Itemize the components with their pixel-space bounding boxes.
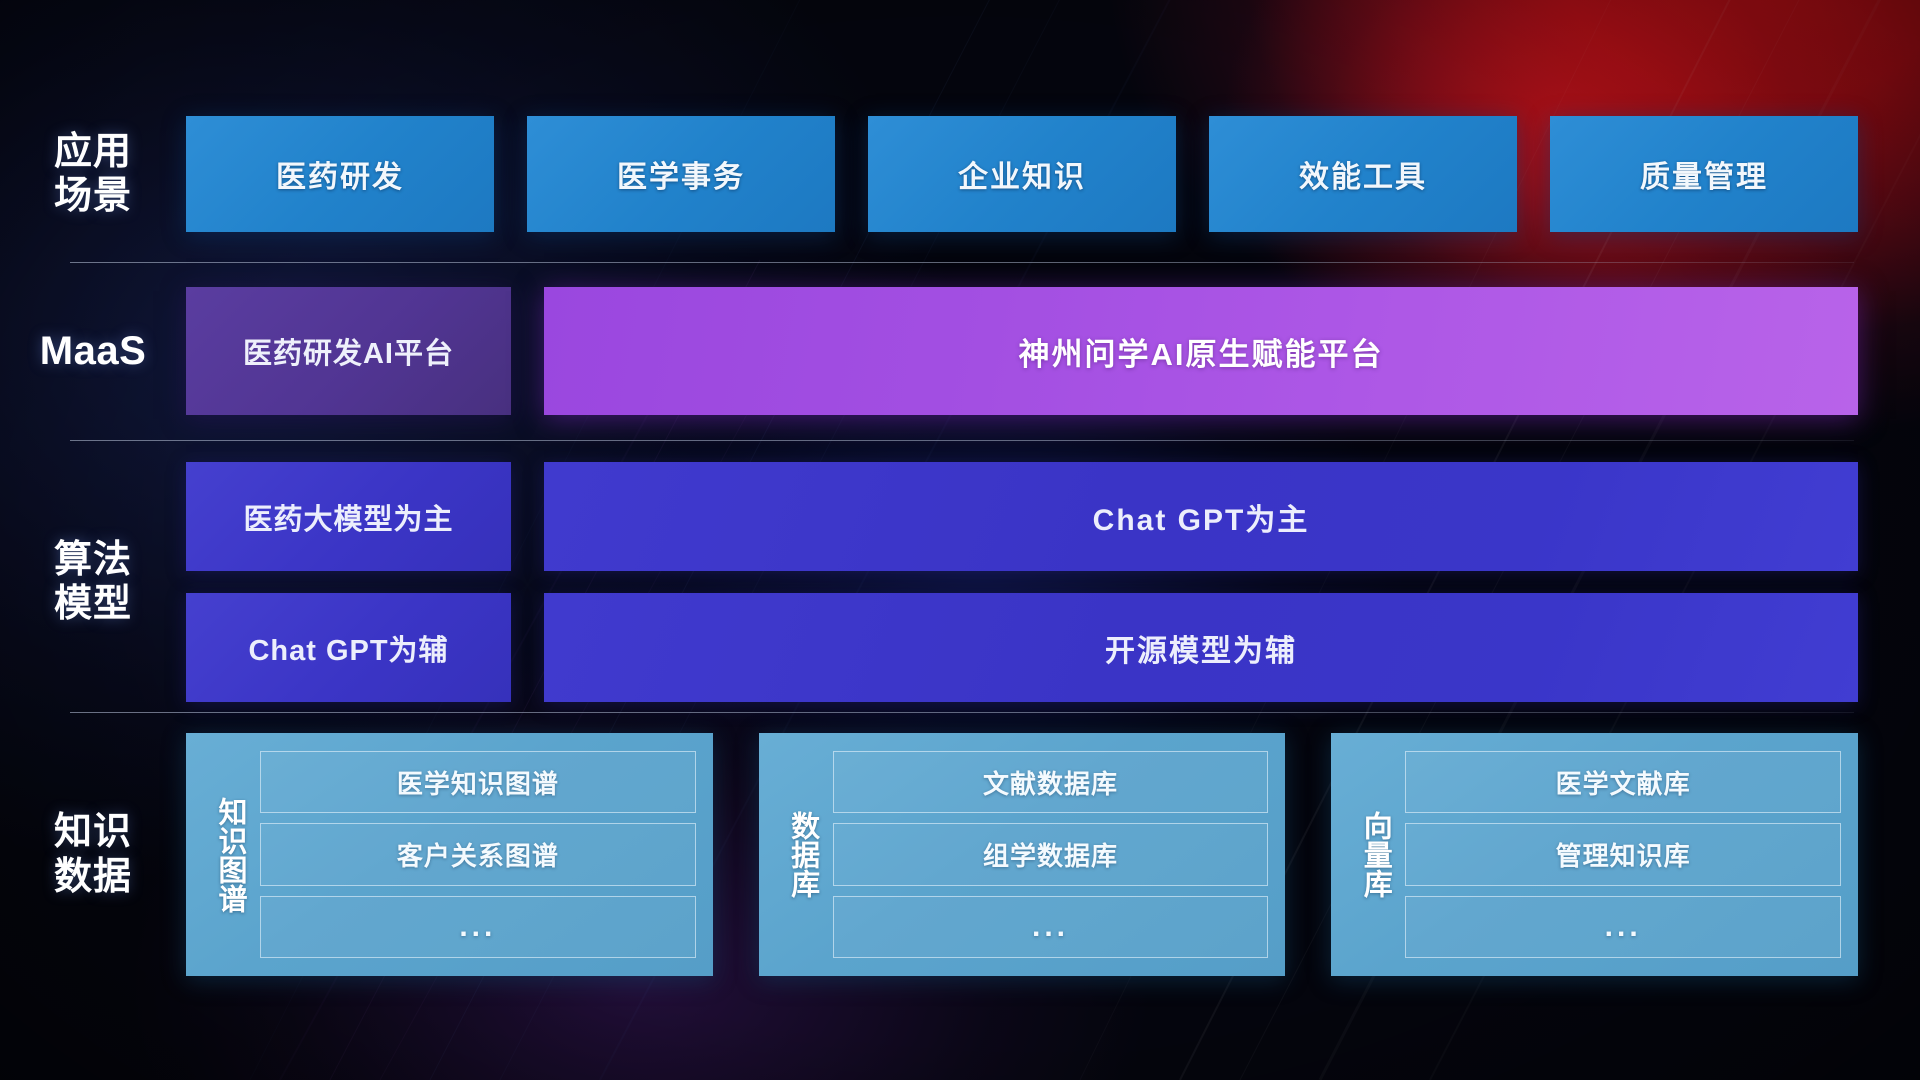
knowledge-group-title-knowledge-graph: 知识图谱 <box>198 747 260 962</box>
knowledge-group-title-database: 数据库 <box>771 747 833 962</box>
knowledge-item-more-graph[interactable]: ... <box>260 896 696 958</box>
diagram-canvas: 应用 场景 医药研发 医学事务 企业知识 效能工具 质量管理 MaaS 医药研发… <box>0 0 1920 1080</box>
row-label-knowledge-data: 知识 数据 <box>0 810 186 898</box>
knowledge-items-vector-store: 医学文献库 管理知识库 ... <box>1405 747 1841 962</box>
row-knowledge-data: 知识 数据 知识图谱 医学知识图谱 客户关系图谱 ... 数据库 <box>0 733 1920 976</box>
knowledge-items-knowledge-graph: 医学知识图谱 客户关系图谱 ... <box>260 747 696 962</box>
row-label-application-scenarios: 应用 场景 <box>0 130 186 218</box>
maas-tile-shenzhou-wenxue[interactable]: 神州问学AI原生赋能平台 <box>544 287 1858 415</box>
app-tile-quality-management[interactable]: 质量管理 <box>1550 116 1858 232</box>
row-label-maas: MaaS <box>0 328 186 374</box>
knowledge-group-vector-store[interactable]: 向量库 医学文献库 管理知识库 ... <box>1331 733 1858 976</box>
divider-algo-knowledge <box>70 712 1854 713</box>
algorithm-row-primary: 医药大模型为主 Chat GPT为主 <box>186 462 1858 571</box>
knowledge-item-customer-relation-graph[interactable]: 客户关系图谱 <box>260 823 696 885</box>
maas-tile-pharma-ai-platform[interactable]: 医药研发AI平台 <box>186 287 511 415</box>
knowledge-group-knowledge-graph[interactable]: 知识图谱 医学知识图谱 客户关系图谱 ... <box>186 733 713 976</box>
app-tile-enterprise-knowledge[interactable]: 企业知识 <box>868 116 1176 232</box>
divider-maas-algo <box>70 440 1854 441</box>
knowledge-item-omics-database[interactable]: 组学数据库 <box>833 823 1269 885</box>
algo-tile-opensource-secondary[interactable]: 开源模型为辅 <box>544 593 1858 702</box>
knowledge-item-more-vector[interactable]: ... <box>1405 896 1841 958</box>
knowledge-item-management-knowledge-store[interactable]: 管理知识库 <box>1405 823 1841 885</box>
knowledge-item-medical-literature-store[interactable]: 医学文献库 <box>1405 751 1841 813</box>
divider-apps-maas <box>70 262 1854 263</box>
algo-tile-chatgpt-secondary[interactable]: Chat GPT为辅 <box>186 593 511 702</box>
row-application-scenarios: 应用 场景 医药研发 医学事务 企业知识 效能工具 质量管理 <box>0 116 1920 232</box>
knowledge-group-title-vector-store: 向量库 <box>1343 747 1405 962</box>
algorithm-models-container: 医药大模型为主 Chat GPT为主 Chat GPT为辅 开源模型为辅 <box>186 462 1920 702</box>
knowledge-item-more-database[interactable]: ... <box>833 896 1269 958</box>
row-maas: MaaS 医药研发AI平台 神州问学AI原生赋能平台 <box>0 287 1920 415</box>
row-algorithm-models: 算法 模型 医药大模型为主 Chat GPT为主 Chat GPT为辅 开源模型… <box>0 462 1920 702</box>
application-tiles-container: 医药研发 医学事务 企业知识 效能工具 质量管理 <box>186 116 1920 232</box>
knowledge-items-database: 文献数据库 组学数据库 ... <box>833 747 1269 962</box>
app-tile-medical-affairs[interactable]: 医学事务 <box>527 116 835 232</box>
algo-tile-chatgpt-primary[interactable]: Chat GPT为主 <box>544 462 1858 571</box>
knowledge-group-database[interactable]: 数据库 文献数据库 组学数据库 ... <box>759 733 1286 976</box>
app-tile-medicine-rd[interactable]: 医药研发 <box>186 116 494 232</box>
algo-tile-pharma-llm-primary[interactable]: 医药大模型为主 <box>186 462 511 571</box>
knowledge-groups-container: 知识图谱 医学知识图谱 客户关系图谱 ... 数据库 文献数据库 组学数据库 .… <box>186 733 1920 976</box>
knowledge-item-medical-knowledge-graph[interactable]: 医学知识图谱 <box>260 751 696 813</box>
algorithm-row-secondary: Chat GPT为辅 开源模型为辅 <box>186 593 1858 702</box>
app-tile-efficiency-tools[interactable]: 效能工具 <box>1209 116 1517 232</box>
maas-container: 医药研发AI平台 神州问学AI原生赋能平台 <box>186 287 1920 415</box>
row-label-algorithm-models: 算法 模型 <box>0 538 186 626</box>
knowledge-item-literature-database[interactable]: 文献数据库 <box>833 751 1269 813</box>
